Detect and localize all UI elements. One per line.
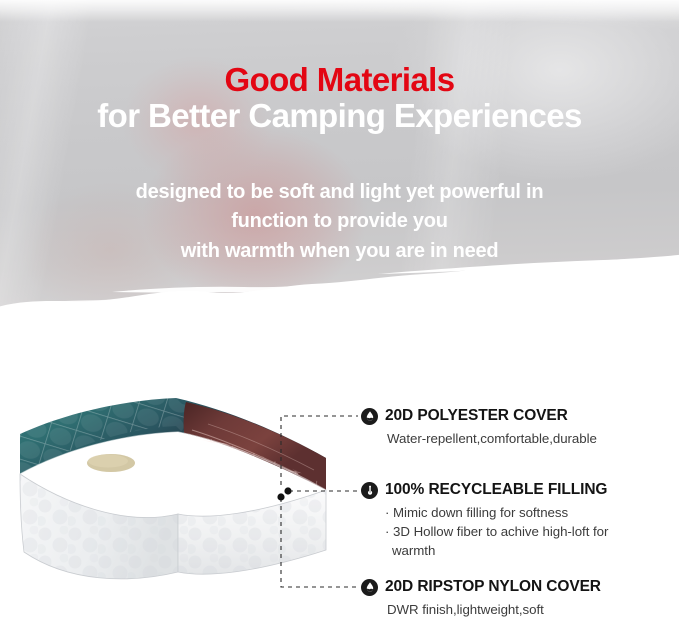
hero-top-highlight: [0, 0, 679, 22]
connector-dot-2: [284, 487, 291, 494]
subtitle-line-2: function to provide you: [0, 207, 679, 236]
callout-polyester-cover: 20D POLYESTER COVER Water-repellent,comf…: [361, 407, 597, 449]
callout-3-title: 20D RIPSTOP NYLON COVER: [385, 578, 601, 596]
connector-dot-3: [277, 493, 284, 500]
callout-2-bullet-2: · 3D Hollow fiber to achive high-loft fo…: [385, 523, 608, 542]
callout-2-bullet-2-wrap: warmth: [392, 542, 608, 561]
callout-1-subtitle: Water-repellent,comfortable,durable: [387, 430, 597, 449]
connector-line-3: [281, 498, 358, 587]
hero-headline-group: Good Materials for Better Camping Experi…: [0, 63, 679, 134]
callout-2-bullets: · Mimic down filling for softness · 3D H…: [385, 504, 608, 561]
callout-1-title: 20D POLYESTER COVER: [385, 407, 568, 425]
callout-1-header: 20D POLYESTER COVER: [361, 407, 597, 425]
headline-secondary: for Better Camping Experiences: [0, 99, 679, 133]
callout-3-header: 20D RIPSTOP NYLON COVER: [361, 578, 601, 596]
callout-2-bullet-1: · Mimic down filling for softness: [385, 504, 608, 523]
callout-2-header: 100% RECYCLEABLE FILLING: [361, 481, 608, 499]
thermometer-icon: [361, 482, 378, 499]
callout-2-title: 100% RECYCLEABLE FILLING: [385, 481, 607, 499]
callout-recycleable-filling: 100% RECYCLEABLE FILLING · Mimic down fi…: [361, 481, 608, 561]
subtitle-line-1: designed to be soft and light yet powerf…: [0, 178, 679, 207]
hero-subtitle: designed to be soft and light yet powerf…: [0, 178, 679, 266]
water-drop-icon: [361, 579, 378, 596]
headline-primary: Good Materials: [0, 63, 679, 97]
callout-3-subtitle: DWR finish,lightweight,soft: [387, 601, 601, 620]
hero-banner: Good Materials for Better Camping Experi…: [0, 0, 679, 312]
water-drop-icon: [361, 408, 378, 425]
subtitle-line-3: with warmth when you are in need: [0, 237, 679, 266]
connector-line-1: [281, 416, 358, 485]
callout-ripstop-nylon-cover: 20D RIPSTOP NYLON COVER DWR finish,light…: [361, 578, 601, 620]
